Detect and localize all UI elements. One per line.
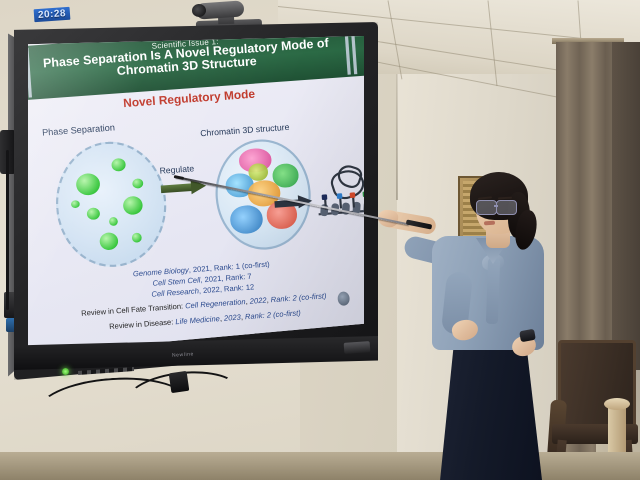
- citation-rank: Rank: 7: [225, 273, 252, 282]
- review-prefix: Review in Cell Fate Transition:: [81, 303, 183, 318]
- wood-post-cap: [604, 398, 630, 410]
- label-regulate: Regulate: [159, 164, 194, 176]
- citation-journal: Cell Research: [151, 288, 199, 299]
- review-journal: Life Medicine: [175, 315, 220, 326]
- glasses-icon: [476, 200, 497, 215]
- presentation-slide: Scientific Issue 1: Phase Separation Is …: [28, 36, 364, 354]
- glasses-icon: [496, 200, 517, 215]
- review-rank: Rank: 2 (co-first): [271, 293, 327, 305]
- review-prefix: Review in Disease:: [109, 318, 174, 330]
- presenter-mouth: [484, 221, 495, 226]
- review-year: 2022: [250, 297, 267, 306]
- presentation-scene: Scientific Issue 1: Phase Separation Is …: [0, 0, 640, 480]
- citation-rank: Rank: 1 (co-first): [214, 261, 270, 273]
- clock-overlay: 20:28: [34, 7, 71, 22]
- citation-year: 2021: [204, 275, 221, 284]
- citation-list: Genome Biology, 2021, Rank: 1 (co-first)…: [28, 252, 364, 339]
- cable-plug: [169, 371, 190, 393]
- label-phase-separation: Phase Separation: [42, 122, 116, 138]
- label-chromatin-3d: Chromatin 3D structure: [200, 122, 290, 138]
- review-year: 2023: [224, 314, 241, 323]
- display-cable: [6, 150, 9, 310]
- presenter-skirt: [438, 336, 542, 480]
- display-front-port[interactable]: [344, 341, 371, 354]
- citation-year: 2021: [193, 265, 210, 274]
- phase-separation-diagram: [52, 138, 171, 271]
- display-screen[interactable]: Scientific Issue 1: Phase Separation Is …: [28, 36, 364, 354]
- nucleosome-array-diagram: [313, 161, 364, 233]
- review-rank: Rank: 2 (co-first): [245, 309, 301, 321]
- glasses-bridge: [494, 205, 498, 207]
- power-led-icon: [62, 368, 69, 375]
- citation-rank: Rank: 12: [224, 284, 255, 294]
- presenter-tie: [486, 258, 500, 324]
- citation-year: 2022: [203, 286, 220, 295]
- review-journal: Cell Regeneration: [185, 299, 246, 311]
- floor: [0, 452, 640, 480]
